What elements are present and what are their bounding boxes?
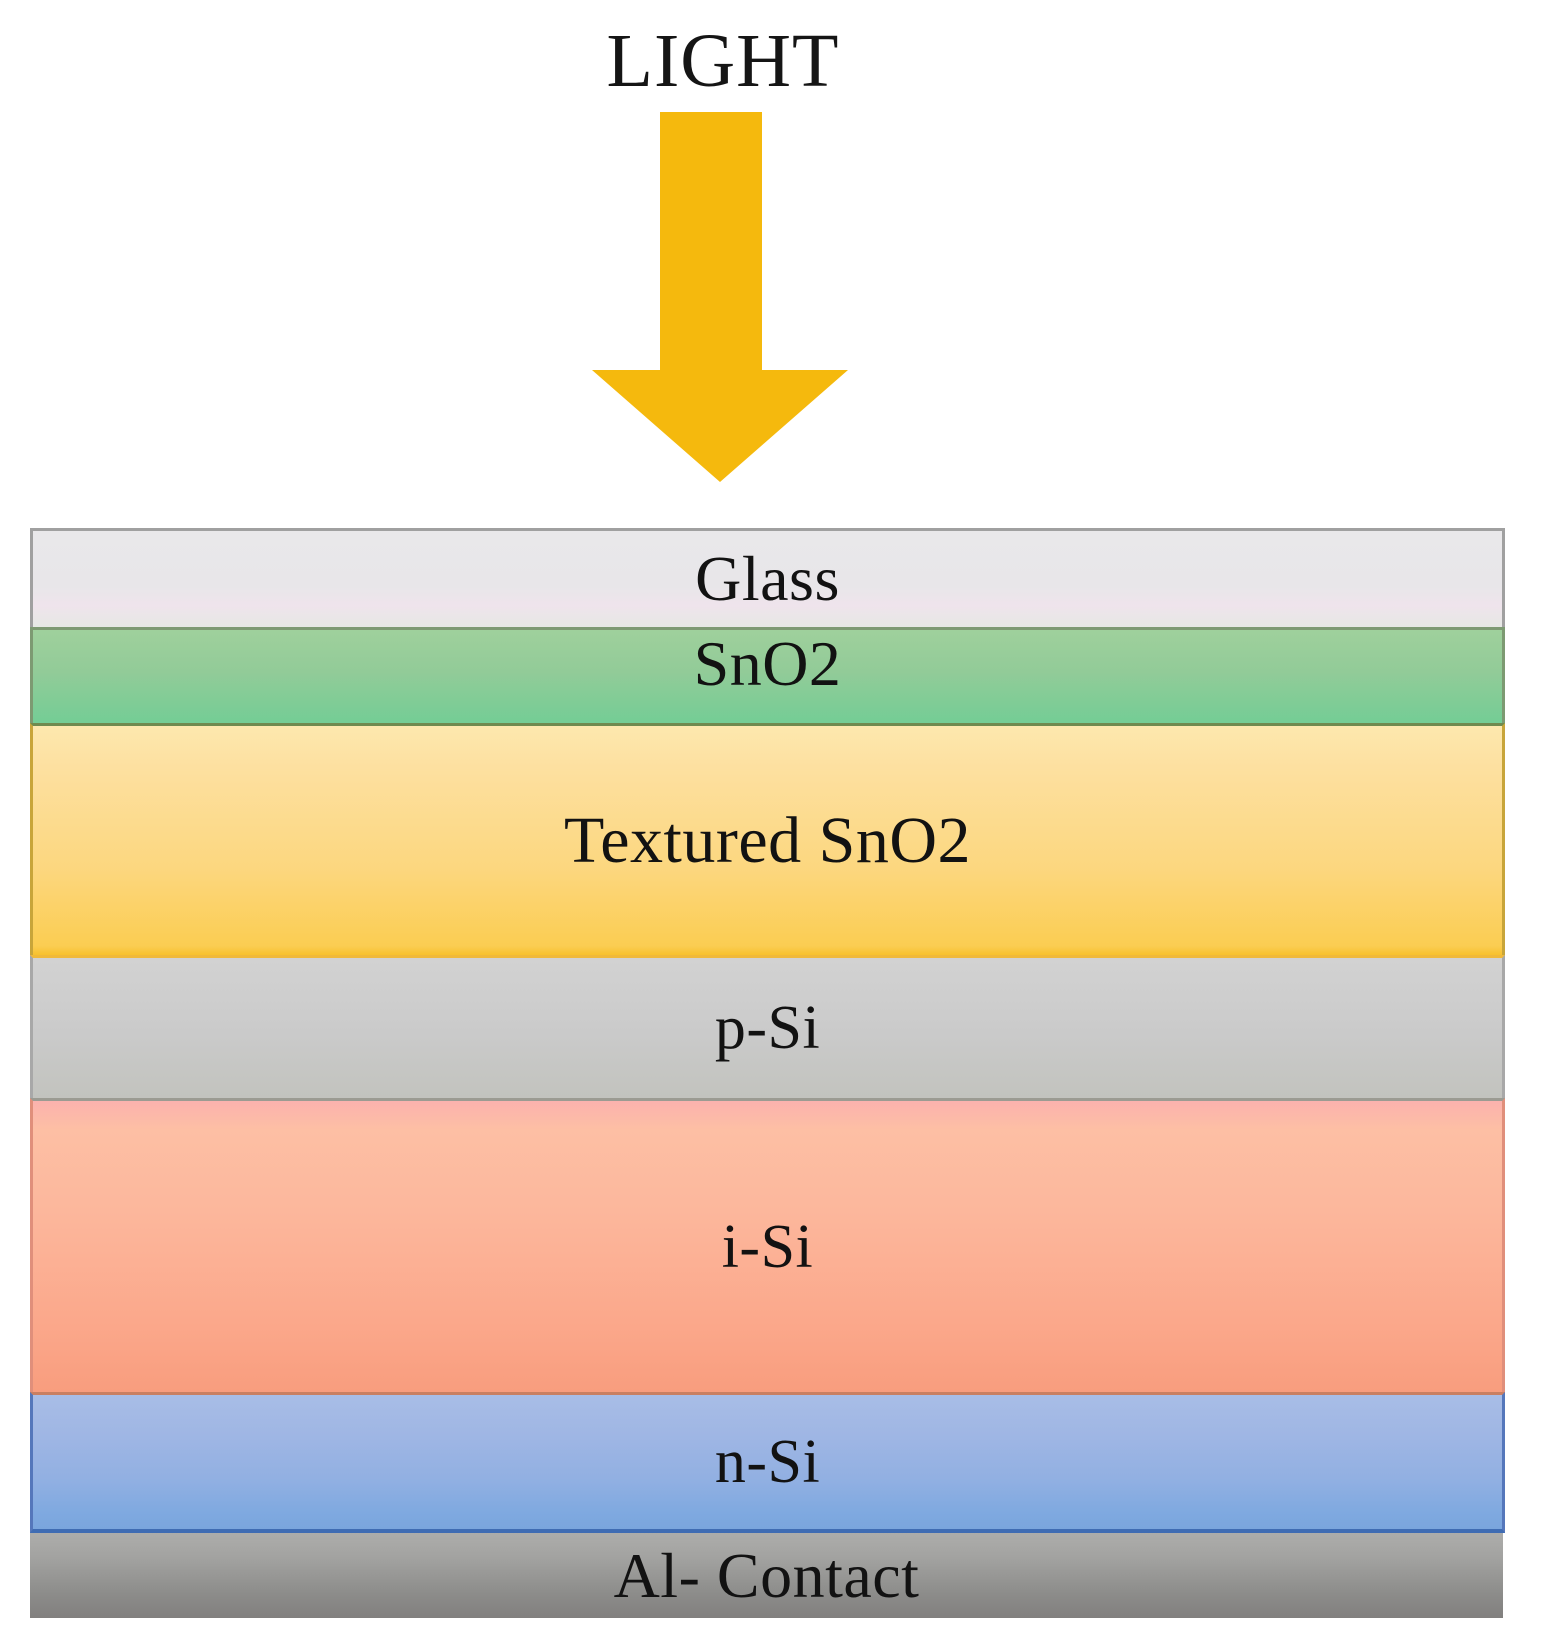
layer-n-si-label: n-Si	[715, 1430, 820, 1494]
layer-i-si: i-Si	[30, 1098, 1505, 1392]
layer-n-si: n-Si	[30, 1392, 1505, 1533]
layer-p-si-label: p-Si	[715, 996, 820, 1060]
layer-textured-sno2-label: Textured SnO2	[564, 809, 971, 873]
layer-glass-label: Glass	[695, 547, 840, 611]
layer-sno2: SnO2	[30, 627, 1505, 723]
layer-sno2-label: SnO2	[694, 632, 842, 696]
light-label: LIGHT	[0, 18, 1446, 104]
layer-p-si: p-Si	[30, 955, 1505, 1098]
layer-al-contact-label: Al- Contact	[614, 1544, 920, 1608]
layer-textured-sno2: Textured SnO2	[30, 723, 1505, 955]
layer-i-si-label: i-Si	[722, 1215, 814, 1279]
layer-glass: Glass	[30, 528, 1505, 627]
layer-al-contact: Al- Contact	[30, 1533, 1503, 1618]
down-arrow-icon	[592, 112, 848, 482]
device-layer-stack: Glass SnO2 Textured SnO2 p-Si i-Si n-Si …	[30, 528, 1505, 1618]
figure-canvas: LIGHT Glass SnO2 Textured SnO2 p-Si i-Si…	[0, 0, 1544, 1652]
